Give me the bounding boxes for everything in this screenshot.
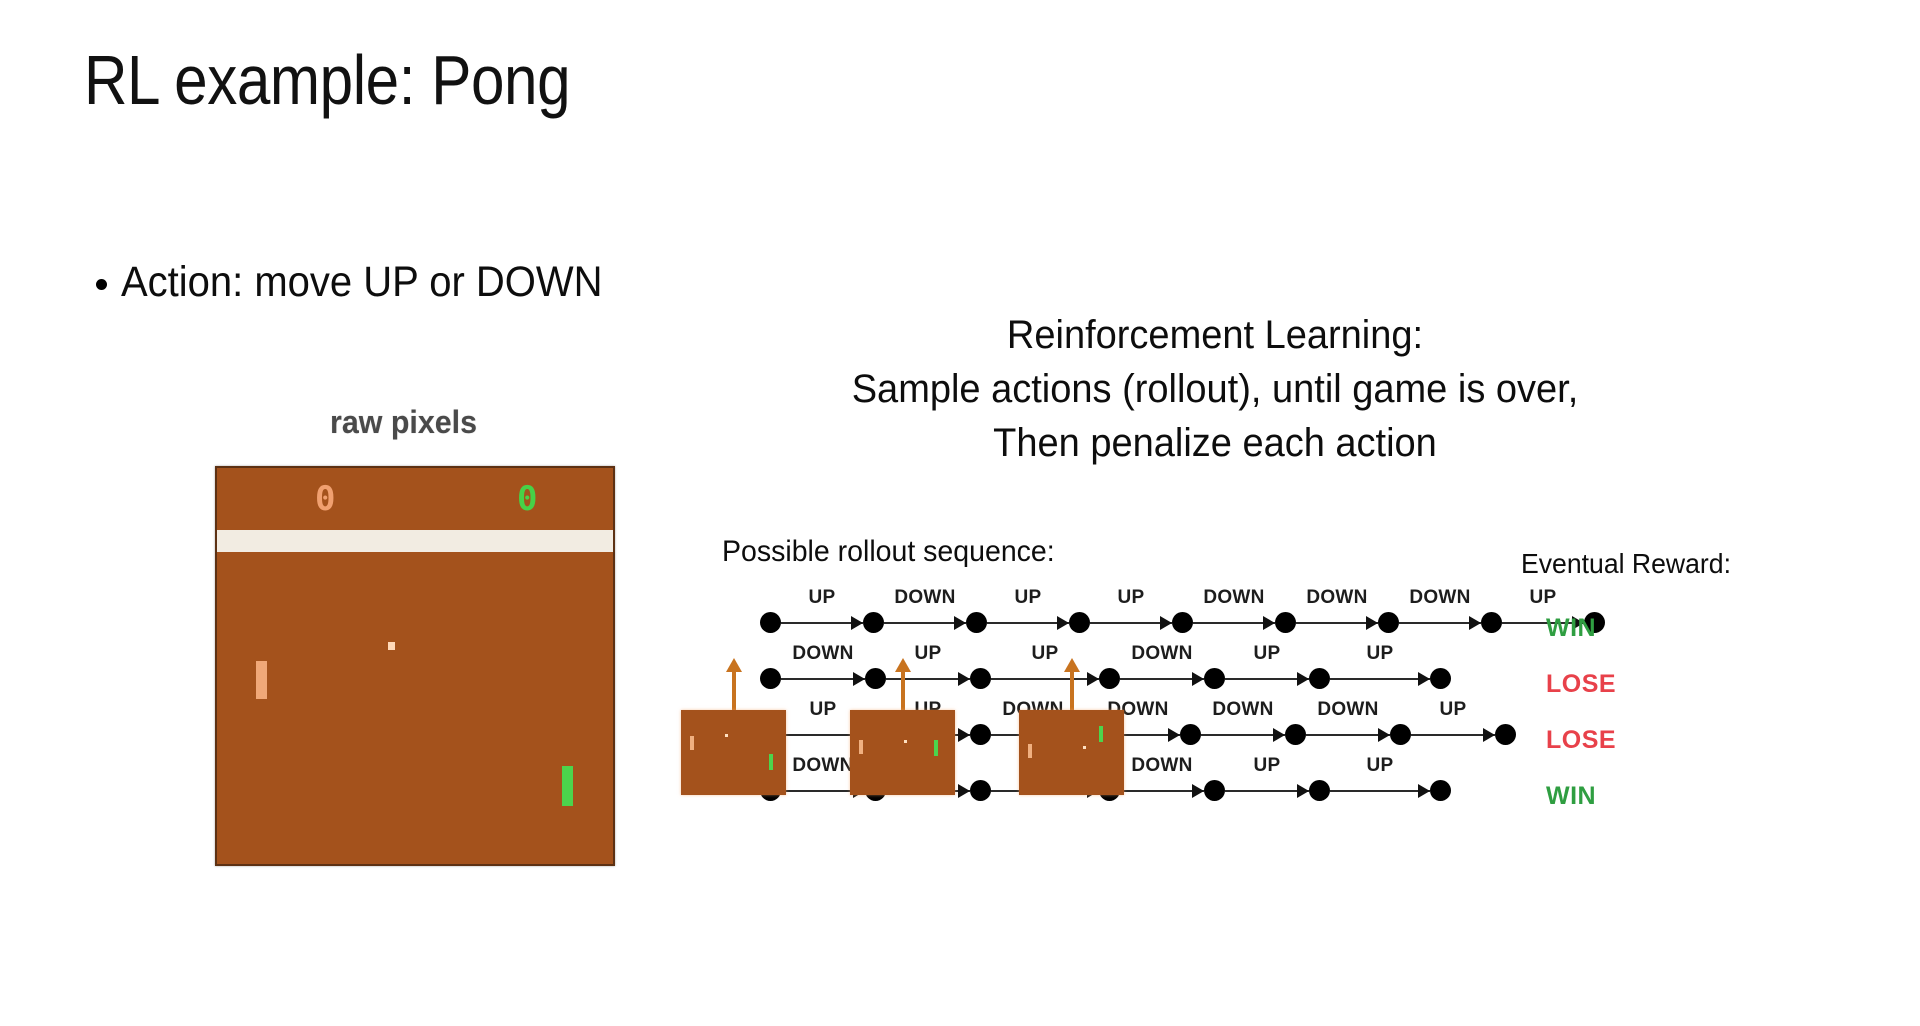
- rollout-node[interactable]: [865, 668, 886, 689]
- arrow-right-icon: [1469, 616, 1481, 630]
- arrow-right-icon: [1273, 728, 1285, 742]
- arrow-up-icon: [732, 670, 736, 710]
- rollout-node[interactable]: [1309, 780, 1330, 801]
- bullet-dot-icon: [96, 279, 107, 290]
- action-label-down: DOWN: [1212, 699, 1273, 721]
- rollout-edge: DOWN: [884, 612, 966, 633]
- action-label-down: DOWN: [1317, 699, 1378, 721]
- action-label-up: UP: [1367, 643, 1394, 665]
- rollout-node[interactable]: [1309, 668, 1330, 689]
- pong-state-thumbnail: [681, 710, 786, 795]
- pong-game-screenshot: 0 0: [215, 466, 615, 866]
- rollout-edge: UP: [1225, 668, 1309, 689]
- action-label-down: DOWN: [792, 755, 853, 777]
- arrow-right-icon: [1263, 616, 1275, 630]
- rollout-node[interactable]: [1495, 724, 1516, 745]
- arrow-up-icon: [1070, 670, 1074, 710]
- action-label-up: UP: [1367, 755, 1394, 777]
- action-label-up: UP: [1015, 587, 1042, 609]
- rl-description-heading: Reinforcement Learning: Sample actions (…: [574, 308, 1857, 470]
- action-label-up: UP: [915, 643, 942, 665]
- rollout-node[interactable]: [760, 668, 781, 689]
- arrow-right-icon: [958, 728, 970, 742]
- rollout-node[interactable]: [1285, 724, 1306, 745]
- arrow-right-icon: [851, 616, 863, 630]
- pong-top-band: [217, 468, 613, 528]
- pong-state-thumbnail: [1019, 710, 1124, 795]
- thumb-paddle-left: [859, 740, 863, 754]
- rollout-edge-line: [1330, 678, 1430, 680]
- thumb-ball: [1083, 746, 1086, 749]
- thumb-paddle-right: [934, 740, 938, 756]
- pong-paddle-left: [256, 661, 267, 699]
- rollout-edge: DOWN: [781, 668, 865, 689]
- arrow-right-icon: [1160, 616, 1172, 630]
- arrow-right-icon: [958, 672, 970, 686]
- reward-value-win: WIN: [1546, 768, 1616, 824]
- arrow-right-icon: [1168, 728, 1180, 742]
- rollout-edge: UP: [781, 612, 863, 633]
- rollout-node[interactable]: [970, 724, 991, 745]
- rollout-node[interactable]: [863, 612, 884, 633]
- raw-pixels-caption: raw pixels: [330, 404, 477, 441]
- arrow-right-icon: [1192, 672, 1204, 686]
- arrow-right-icon: [1297, 672, 1309, 686]
- thumb-paddle-right: [769, 754, 773, 770]
- thumb-paddle-left: [690, 736, 694, 750]
- reward-value-lose: LOSE: [1546, 712, 1616, 768]
- arrow-right-icon: [958, 784, 970, 798]
- pong-ball: [388, 642, 395, 650]
- rollout-edge: DOWN: [1120, 780, 1204, 801]
- arrow-up-head-icon: [726, 658, 742, 672]
- action-label-down: DOWN: [1131, 755, 1192, 777]
- action-label-up: UP: [1118, 587, 1145, 609]
- reward-column: WINLOSELOSEWIN: [1546, 600, 1616, 824]
- rollout-node[interactable]: [1430, 780, 1451, 801]
- action-label-down: DOWN: [894, 587, 955, 609]
- action-label-up: UP: [810, 699, 837, 721]
- rollout-edge: UP: [987, 612, 1069, 633]
- arrow-up-icon: [901, 670, 905, 710]
- pong-score-left: 0: [315, 482, 335, 516]
- eventual-reward-label: Eventual Reward:: [1521, 548, 1731, 580]
- rollout-edge: UP: [1411, 724, 1495, 745]
- rollout-node[interactable]: [1481, 612, 1502, 633]
- arrow-up-head-icon: [895, 658, 911, 672]
- rollout-edge: UP: [1090, 612, 1172, 633]
- rollout-edge: DOWN: [1193, 612, 1275, 633]
- page-title: RL example: Pong: [84, 40, 570, 120]
- rollout-edge: DOWN: [1306, 724, 1390, 745]
- rollout-edge: UP: [991, 668, 1099, 689]
- arrow-up-head-icon: [1064, 658, 1080, 672]
- rollout-edge-line: [1330, 790, 1430, 792]
- rollout-edge-line: [991, 678, 1099, 680]
- rollout-chain: UPDOWNUPUPDOWNDOWNDOWNUP: [760, 612, 1605, 633]
- rollout-node[interactable]: [1069, 612, 1090, 633]
- state-thumbnail-group: [681, 710, 786, 795]
- pong-score-right: 0: [517, 482, 537, 516]
- rollout-node[interactable]: [1204, 668, 1225, 689]
- action-label-down: DOWN: [1409, 587, 1470, 609]
- arrow-right-icon: [1366, 616, 1378, 630]
- rollout-sequence-label: Possible rollout sequence:: [722, 535, 1055, 569]
- pong-divider-bar: [217, 530, 613, 552]
- thumb-ball: [904, 740, 907, 743]
- rl-heading-line-2: Sample actions (rollout), until game is …: [574, 362, 1857, 416]
- action-label-down: DOWN: [1131, 643, 1192, 665]
- rollout-node[interactable]: [1390, 724, 1411, 745]
- action-label-up: UP: [1032, 643, 1059, 665]
- reward-value-win: WIN: [1546, 600, 1616, 656]
- arrow-right-icon: [954, 616, 966, 630]
- rollout-node[interactable]: [1099, 668, 1120, 689]
- arrow-right-icon: [1087, 672, 1099, 686]
- state-thumbnail-group: [850, 710, 955, 795]
- rollout-edge: DOWN: [1399, 612, 1481, 633]
- action-label-down: DOWN: [1203, 587, 1264, 609]
- arrow-right-icon: [853, 672, 865, 686]
- reward-value-lose: LOSE: [1546, 656, 1616, 712]
- rl-heading-line-1: Reinforcement Learning:: [574, 308, 1857, 362]
- rollout-node[interactable]: [1172, 612, 1193, 633]
- rollout-node[interactable]: [1180, 724, 1201, 745]
- thumb-ball: [725, 734, 728, 737]
- rollout-edge: UP: [1330, 780, 1430, 801]
- pong-paddle-right: [562, 766, 573, 806]
- bullet-item-label: Action: move UP or DOWN: [121, 258, 602, 307]
- rollout-node[interactable]: [1430, 668, 1451, 689]
- arrow-right-icon: [1483, 728, 1495, 742]
- rollout-edge: DOWN: [1120, 668, 1204, 689]
- action-label-down: DOWN: [792, 643, 853, 665]
- thumb-paddle-left: [1028, 744, 1032, 758]
- rollout-node[interactable]: [970, 668, 991, 689]
- rollout-node[interactable]: [1204, 780, 1225, 801]
- arrow-right-icon: [1192, 784, 1204, 798]
- rollout-node[interactable]: [966, 612, 987, 633]
- arrow-right-icon: [1418, 784, 1430, 798]
- slide-canvas: RL example: Pong Action: move UP or DOWN…: [0, 0, 1920, 1026]
- action-label-down: DOWN: [1306, 587, 1367, 609]
- arrow-right-icon: [1378, 728, 1390, 742]
- rollout-edge: UP: [1225, 780, 1309, 801]
- rollout-node[interactable]: [970, 780, 991, 801]
- pong-state-thumbnail: [850, 710, 955, 795]
- action-label-up: UP: [1254, 755, 1281, 777]
- rollout-edge: DOWN: [1201, 724, 1285, 745]
- arrow-right-icon: [1297, 784, 1309, 798]
- bullet-item-action: Action: move UP or DOWN: [96, 258, 639, 307]
- action-label-up: UP: [1254, 643, 1281, 665]
- rl-heading-line-3: Then penalize each action: [574, 416, 1857, 470]
- arrow-right-icon: [1057, 616, 1069, 630]
- rollout-edge: DOWN: [1296, 612, 1378, 633]
- rollout-node[interactable]: [760, 612, 781, 633]
- rollout-node[interactable]: [1378, 612, 1399, 633]
- rollout-node[interactable]: [1275, 612, 1296, 633]
- action-label-up: UP: [809, 587, 836, 609]
- rollout-chain: DOWNUPUPDOWNUPUP: [760, 668, 1451, 689]
- arrow-right-icon: [1418, 672, 1430, 686]
- state-thumbnail-group: [1019, 710, 1124, 795]
- thumb-paddle-right: [1099, 726, 1103, 742]
- action-label-up: UP: [1440, 699, 1467, 721]
- rollout-edge: UP: [1330, 668, 1430, 689]
